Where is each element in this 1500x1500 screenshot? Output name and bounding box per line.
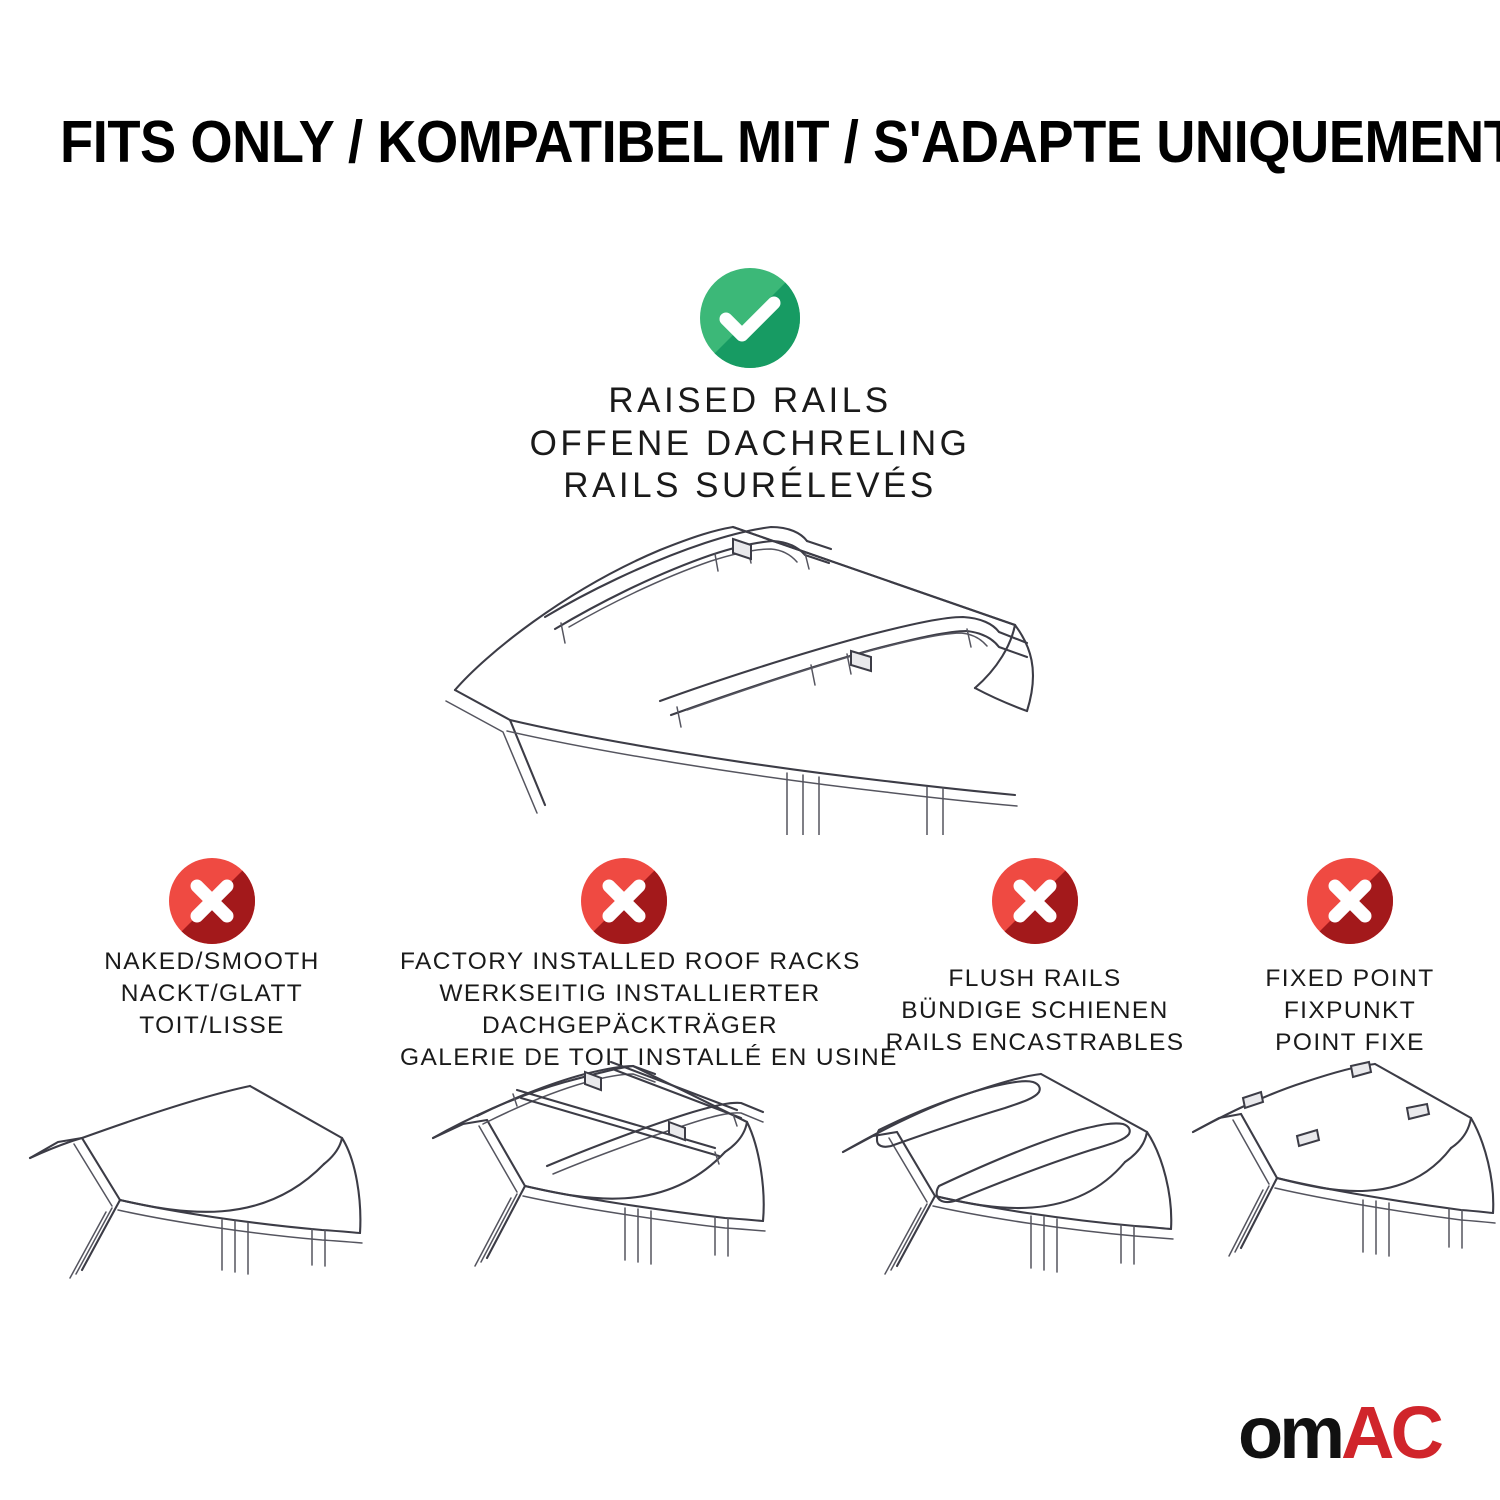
car-roof-raised-rails-illustration [415, 505, 1115, 835]
raised-rail-near [660, 617, 1027, 727]
caption-line: FIXPUNKT [1200, 995, 1500, 1027]
incompatible-caption-factory-roof-rack: FACTORY INSTALLED ROOF RACKS WERKSEITIG … [400, 946, 860, 1073]
caption-line: FIXED POINT [1200, 963, 1500, 995]
cross-mark-glyph [1307, 858, 1393, 944]
page-title: FITS ONLY / KOMPATIBEL MIT / S'ADAPTE UN… [60, 108, 1440, 176]
logo-text-ac: AC [1341, 1391, 1440, 1474]
caption-line: POINT FIXE [1200, 1027, 1500, 1059]
cross-circle-icon [581, 858, 667, 944]
flush-rail-near [937, 1123, 1130, 1202]
cross-mark-glyph [169, 858, 255, 944]
cross-bar-front [513, 1090, 719, 1164]
caption-line: RAILS ENCASTRABLES [845, 1027, 1225, 1059]
fixed-point-cover [1407, 1104, 1429, 1119]
caption-line: BÜNDIGE SCHIENEN [845, 995, 1225, 1027]
omac-logo: omAC [1238, 1398, 1464, 1468]
cross-circle-icon [169, 858, 255, 944]
cross-circle-icon [1307, 858, 1393, 944]
caption-line: WERKSEITIG INSTALLIERTER [400, 978, 860, 1010]
check-circle-icon [700, 268, 800, 368]
caption-line: FLUSH RAILS [845, 963, 1225, 995]
logo-text-om: om [1238, 1391, 1341, 1474]
cross-mark-glyph [581, 858, 667, 944]
car-roof-flush-rails-illustration [835, 1060, 1215, 1310]
car-roof-naked-smooth-illustration [22, 1060, 402, 1310]
compatible-line-3: RAILS SURÉLEVÉS [0, 465, 1500, 508]
fixed-point-cover [1297, 1130, 1319, 1146]
incompatible-caption-fixed-point: FIXED POINT FIXPUNKT POINT FIXE [1200, 963, 1500, 1059]
caption-line: NACKT/GLATT [32, 978, 392, 1010]
car-roof-fixed-point-illustration [1185, 1060, 1500, 1310]
incompatible-caption-flush-rails: FLUSH RAILS BÜNDIGE SCHIENEN RAILS ENCAS… [845, 963, 1225, 1059]
compatibility-infographic: FITS ONLY / KOMPATIBEL MIT / S'ADAPTE UN… [0, 0, 1500, 1500]
car-roof-factory-roof-rack-illustration [425, 1060, 805, 1310]
compatible-line-1: RAISED RAILS [0, 380, 1500, 423]
caption-line: FACTORY INSTALLED ROOF RACKS [400, 946, 860, 978]
fixed-point-cover [1351, 1062, 1371, 1077]
compatible-line-2: OFFENE DACHRELING [0, 423, 1500, 466]
incompatible-caption-naked-smooth: NAKED/SMOOTH NACKT/GLATT TOIT/LISSE [32, 946, 392, 1042]
fixed-point-cover [1243, 1092, 1263, 1108]
check-mark-glyph [700, 268, 800, 368]
flush-rail-far [877, 1081, 1040, 1147]
cross-circle-icon [992, 858, 1078, 944]
caption-line: DACHGEPÄCKTRÄGER [400, 1010, 860, 1042]
compatible-caption: RAISED RAILS OFFENE DACHRELING RAILS SUR… [0, 380, 1500, 508]
caption-line: TOIT/LISSE [32, 1010, 392, 1042]
caption-line: NAKED/SMOOTH [32, 946, 392, 978]
cross-mark-glyph [992, 858, 1078, 944]
